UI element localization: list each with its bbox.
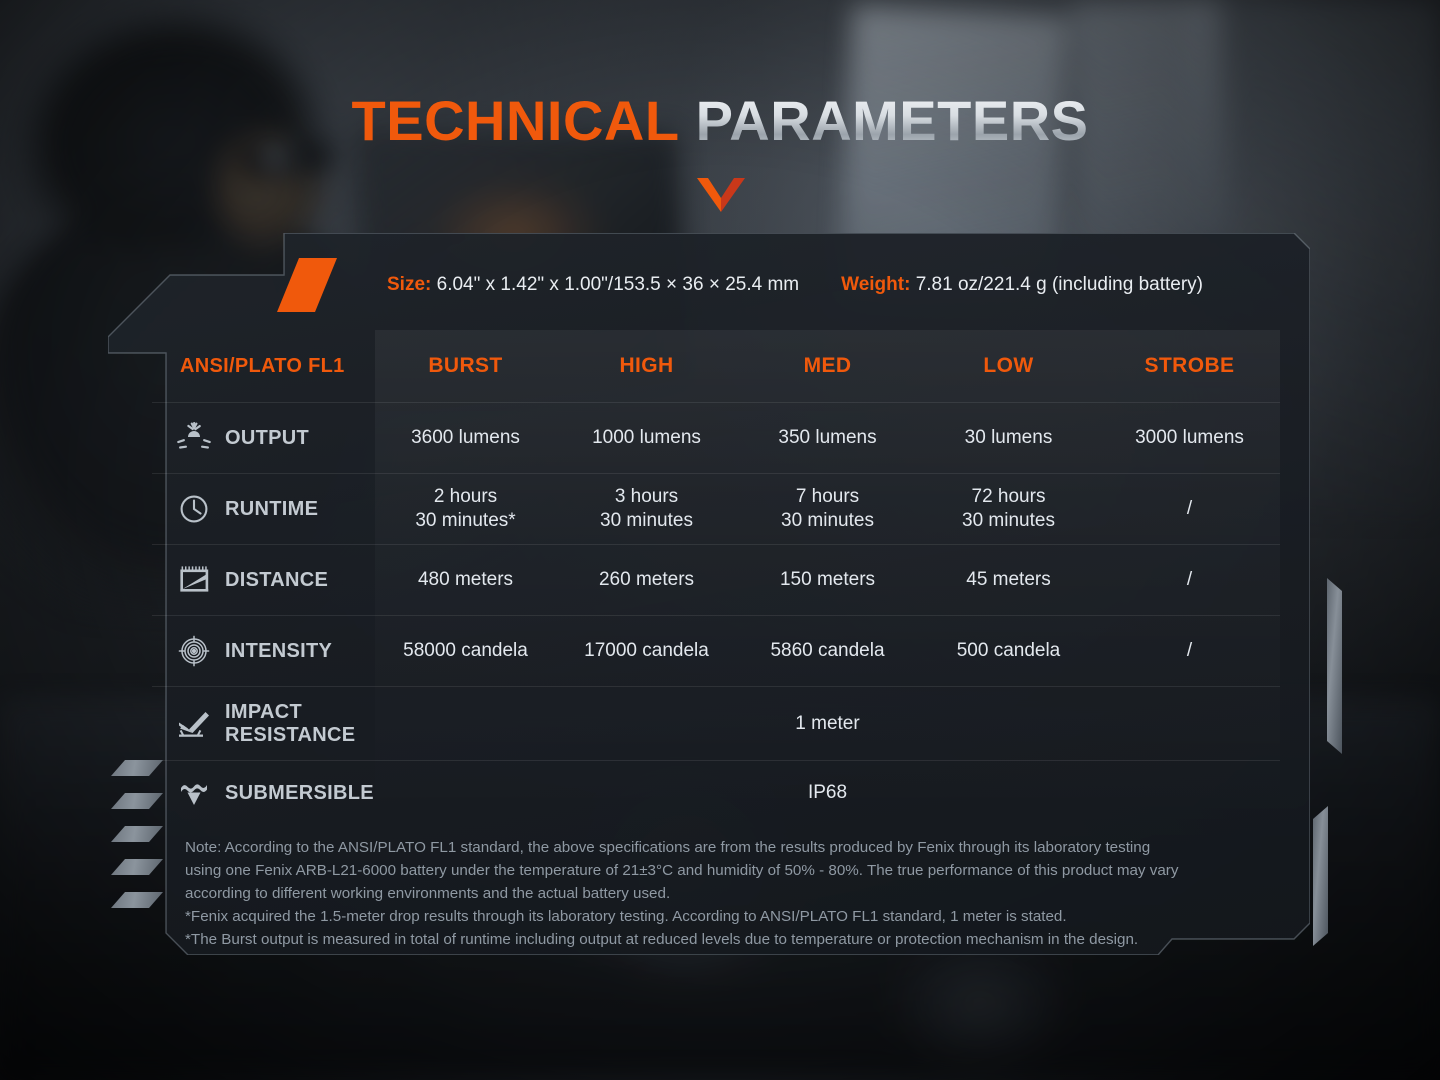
footnote-line-2: using one Fenix ARB-L21-6000 battery und… (185, 859, 1280, 882)
table-cell: 480 meters (375, 568, 556, 592)
droplet-icon (176, 777, 212, 809)
size-spec: Size: 6.04" x 1.42" x 1.00"/153.5 × 36 ×… (387, 274, 799, 296)
table-cell: 2 hours30 minutes* (375, 485, 556, 533)
row-cells: 480 meters260 meters150 meters45 meters/ (375, 568, 1280, 592)
infographic-stage: TECHNICAL PARAMETERS Size: 6.04" x 1.42"… (0, 0, 1440, 1080)
column-header-strobe: STROBE (1099, 353, 1280, 379)
row-label-intensity: INTENSITY (152, 635, 375, 667)
clock-icon (176, 493, 212, 525)
impact-icon (176, 708, 212, 740)
weight-label: Weight: (841, 274, 910, 295)
row-label-line-1: RUNTIME (225, 498, 318, 520)
table-cell: 17000 candela (556, 639, 737, 663)
ruler-icon (176, 564, 212, 596)
decorative-right-bar-upper (1327, 578, 1342, 754)
row-label-line-1: OUTPUT (225, 427, 309, 449)
spec-table: ANSI/PLATO FL1BURSTHIGHMEDLOWSTROBE OUTP… (152, 330, 1280, 825)
row-label-submersible: SUBMERSIBLE (152, 777, 375, 809)
stripe-1 (111, 760, 163, 776)
chevron-down-icon (697, 178, 745, 212)
table-cell: 58000 candela (375, 639, 556, 663)
row-label-line-1: SUBMERSIBLE (225, 782, 374, 804)
table-corner-header: ANSI/PLATO FL1 (152, 355, 375, 378)
row-cells: IP68 (375, 781, 1280, 805)
table-cell-merged: 1 meter (375, 712, 1280, 736)
table-cell: 7 hours30 minutes (737, 485, 918, 533)
page-title-primary: TECHNICAL (352, 89, 680, 152)
table-header-row: ANSI/PLATO FL1BURSTHIGHMEDLOWSTROBE (152, 330, 1280, 402)
table-cell: 260 meters (556, 568, 737, 592)
row-cells: 2 hours30 minutes*3 hours30 minutes7 hou… (375, 485, 1280, 533)
column-header-med: MED (737, 353, 918, 379)
table-cell-merged: IP68 (375, 781, 1280, 805)
weight-spec: Weight: 7.81 oz/221.4 g (including batte… (841, 274, 1203, 296)
footnote-line-4: *Fenix acquired the 1.5-meter drop resul… (185, 905, 1280, 928)
row-label-line-1: IMPACT (225, 701, 355, 723)
table-cell: 350 lumens (737, 426, 918, 450)
table-cell: 30 lumens (918, 426, 1099, 450)
table-cell: 45 meters (918, 568, 1099, 592)
decorative-stripes (111, 760, 167, 942)
row-cells: 1 meter (375, 712, 1280, 736)
column-header-low: LOW (918, 353, 1099, 379)
row-label-text: RUNTIME (225, 498, 318, 520)
footnote-line-3: according to different working environme… (185, 882, 1280, 905)
row-label-distance: DISTANCE (152, 564, 375, 596)
row-cells: 58000 candela17000 candela5860 candela50… (375, 639, 1280, 663)
table-cell: 72 hours30 minutes (918, 485, 1099, 533)
table-row: RUNTIME2 hours30 minutes*3 hours30 minut… (152, 473, 1280, 544)
row-label-text: OUTPUT (225, 427, 309, 449)
table-cell: / (1099, 497, 1280, 521)
stripe-5 (111, 892, 163, 908)
column-header-high: HIGH (556, 353, 737, 379)
row-label-line-1: INTENSITY (225, 640, 332, 662)
column-header-burst: BURST (375, 353, 556, 379)
row-label-text: DISTANCE (225, 569, 328, 591)
weight-value: 7.81 oz/221.4 g (including battery) (916, 274, 1203, 295)
row-label-text: IMPACTRESISTANCE (225, 701, 355, 746)
footnote-block: Note: According to the ANSI/PLATO FL1 st… (185, 836, 1280, 951)
table-cell: 5860 candela (737, 639, 918, 663)
row-label-runtime: RUNTIME (152, 493, 375, 525)
target-icon (176, 635, 212, 667)
stripe-2 (111, 793, 163, 809)
summary-bar: Size: 6.04" x 1.42" x 1.00"/153.5 × 36 ×… (290, 258, 1300, 312)
stripe-3 (111, 826, 163, 842)
decorative-right-bar-lower (1313, 806, 1328, 946)
page-title-secondary: PARAMETERS (696, 89, 1089, 152)
table-cell: 3600 lumens (375, 426, 556, 450)
table-cell: / (1099, 639, 1280, 663)
row-label-text: SUBMERSIBLE (225, 782, 374, 804)
table-row: DISTANCE480 meters260 meters150 meters45… (152, 544, 1280, 615)
sunburst-icon (176, 422, 212, 454)
stripe-4 (111, 859, 163, 875)
table-cell: 500 candela (918, 639, 1099, 663)
row-cells: 3600 lumens1000 lumens350 lumens30 lumen… (375, 426, 1280, 450)
row-label-line-2: RESISTANCE (225, 724, 355, 746)
footnote-line-1: Note: According to the ANSI/PLATO FL1 st… (185, 836, 1280, 859)
row-label-impact: IMPACTRESISTANCE (152, 701, 375, 746)
table-cell: / (1099, 568, 1280, 592)
size-value: 6.04" x 1.42" x 1.00"/153.5 × 36 × 25.4 … (437, 274, 799, 295)
row-label-line-1: DISTANCE (225, 569, 328, 591)
table-row: OUTPUT3600 lumens1000 lumens350 lumens30… (152, 402, 1280, 473)
size-label: Size: (387, 274, 431, 295)
table-cell: 1000 lumens (556, 426, 737, 450)
table-cell: 3000 lumens (1099, 426, 1280, 450)
row-label-output: OUTPUT (152, 422, 375, 454)
table-row: SUBMERSIBLEIP68 (152, 760, 1280, 825)
footnote-line-5: *The Burst output is measured in total o… (185, 928, 1280, 951)
row-label-text: INTENSITY (225, 640, 332, 662)
table-corner-header-label: ANSI/PLATO FL1 (180, 355, 345, 378)
table-header-cells: BURSTHIGHMEDLOWSTROBE (375, 353, 1280, 379)
table-row: IMPACTRESISTANCE1 meter (152, 686, 1280, 760)
table-cell: 3 hours30 minutes (556, 485, 737, 533)
table-cell: 150 meters (737, 568, 918, 592)
table-row: INTENSITY58000 candela17000 candela5860 … (152, 615, 1280, 686)
page-title: TECHNICAL PARAMETERS (0, 88, 1440, 153)
